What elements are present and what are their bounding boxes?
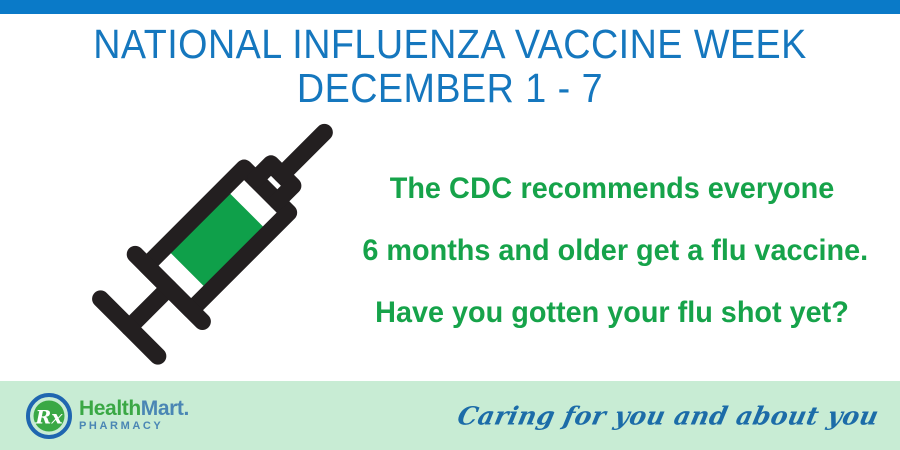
message-line-1-suffix: recommends everyone [513,172,835,205]
top-accent-bar [0,0,900,14]
flu-vaccine-poster: NATIONAL INFLUENZA VACCINE WEEK DECEMBER… [0,0,900,450]
health-mart-logo: Rx HealthMart. PHARMACY [26,390,189,442]
logo-word-health: Health [79,397,141,420]
footer-band: Rx HealthMart. PHARMACY Caring for you a… [0,381,900,450]
message-line-1-emphasis: CDC [449,172,513,205]
syringe-needle [282,132,324,174]
footer-tagline: Caring for you and about you [454,401,881,430]
rx-badge-icon: Rx [26,393,72,439]
headline-line-1: NATIONAL INFLUENZA VACCINE WEEK [36,22,864,66]
logo-word-dot: . [184,397,189,420]
logo-wordmark-primary: HealthMart. [79,398,189,419]
syringe-illustration [58,108,368,378]
rx-badge-symbol: Rx [34,407,63,429]
headline-line-2: DECEMBER 1 - 7 [36,66,864,110]
page-title: NATIONAL INFLUENZA VACCINE WEEK DECEMBER… [36,22,864,110]
logo-word-mart: Mart [141,397,184,420]
syringe-icon [58,108,368,378]
message-line-2: 6 months and older get a flu vaccine. [362,220,861,282]
syringe-liquid [171,194,264,287]
message-block: The CDC recommends everyone 6 months and… [362,158,861,344]
message-line-1: The CDC recommends everyone [362,158,861,220]
logo-word-pharmacy: PHARMACY [79,421,189,432]
message-line-3: Have you gotten your flu shot yet? [362,282,861,344]
logo-wordmark: HealthMart. PHARMACY [79,398,189,434]
message-line-1-prefix: The [390,172,449,205]
